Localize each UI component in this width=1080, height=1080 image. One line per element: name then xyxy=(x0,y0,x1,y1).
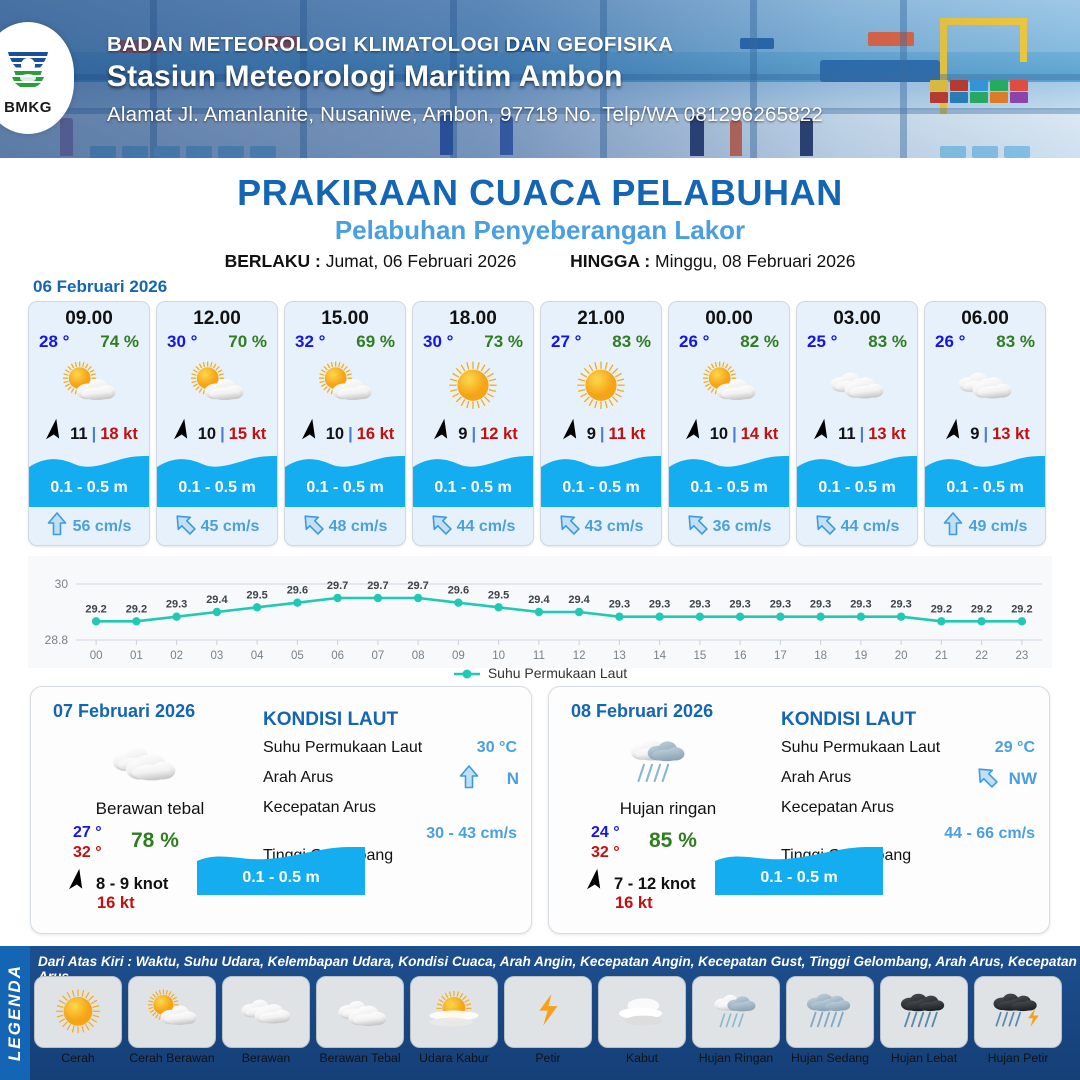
card-gust: 15 kt xyxy=(229,425,267,444)
forecast-card: 21.00 27 ° 83 % 9 | 11 kt 0.1 - 0.5 m 43… xyxy=(540,301,662,546)
card-time: 00.00 xyxy=(669,308,789,330)
card-wind-row: 11 | 18 kt xyxy=(29,422,149,447)
card-wind-separator: | xyxy=(600,425,605,444)
weather-hujan-lebat-icon xyxy=(880,976,968,1048)
sea-conditions-title: KONDISI LAUT xyxy=(781,709,1039,731)
svg-text:29.3: 29.3 xyxy=(166,599,187,611)
card-gust: 18 kt xyxy=(100,425,138,444)
sst-label: Suhu Permukaan Laut xyxy=(263,739,422,756)
svg-text:29.3: 29.3 xyxy=(649,599,670,611)
day-temp-min: 27 ° xyxy=(73,823,102,843)
forecast-card: 18.00 30 ° 73 % 9 | 12 kt 0.1 - 0.5 m 44… xyxy=(412,301,534,546)
legend-item: Udara Kabur xyxy=(410,976,498,1076)
validity-row: BERLAKU : Jumat, 06 Februari 2026 HINGGA… xyxy=(0,251,1080,272)
day-temp-max: 32 ° xyxy=(591,843,620,863)
current-speed-value-row: 30 - 43 cm/s xyxy=(263,829,521,847)
day-temp-max: 32 ° xyxy=(73,843,102,863)
card-temp-hum: 28 ° 74 % xyxy=(29,330,149,352)
svg-text:00: 00 xyxy=(90,650,103,662)
card-wind-speed: 11 xyxy=(70,425,87,444)
legend-item-label: Hujan Ringan xyxy=(692,1051,780,1065)
current-speed-value: 44 - 66 cm/s xyxy=(944,825,1035,843)
card-wind-speed: 10 xyxy=(326,425,344,444)
card-humidity: 83 % xyxy=(868,332,907,352)
legend-item-label: Kabut xyxy=(598,1051,686,1065)
forecast-card: 15.00 32 ° 69 % 10 | 16 kt 0.1 - 0.5 m xyxy=(284,301,406,546)
svg-text:29.7: 29.7 xyxy=(407,580,428,592)
legend-item-label: Hujan Lebat xyxy=(880,1051,968,1065)
svg-text:05: 05 xyxy=(291,650,304,662)
wind-direction-arrow-icon xyxy=(296,422,322,447)
current-direction-arrow-icon xyxy=(943,512,963,541)
wind-direction-arrow-icon xyxy=(428,422,454,447)
weather-cerah-berawan-icon xyxy=(285,354,405,418)
weather-cerah-icon xyxy=(541,354,661,418)
card-current-speed: 44 cm/s xyxy=(841,518,900,536)
sst-value: 29 °C xyxy=(995,739,1035,757)
card-time: 15.00 xyxy=(285,308,405,330)
day-wind-speed: 8 - 9 knot xyxy=(96,875,168,894)
card-time: 18.00 xyxy=(413,308,533,330)
card-temperature: 26 ° xyxy=(935,332,965,352)
legend-item: Hujan Sedang xyxy=(786,976,874,1076)
day-panels: 07 Februari 2026 Berawan tebal 27 ° 32 °… xyxy=(30,686,1050,934)
day-panel: 07 Februari 2026 Berawan tebal 27 ° 32 °… xyxy=(30,686,532,934)
station-address: Alamat Jl. Amanlanite, Nusaniwe, Ambon, … xyxy=(107,103,823,127)
forecast-date-label: 06 Februari 2026 xyxy=(33,277,167,297)
legend-item: Berawan xyxy=(222,976,310,1076)
svg-text:29.6: 29.6 xyxy=(287,585,308,597)
page-title: PRAKIRAAN CUACA PELABUHAN xyxy=(0,172,1080,214)
day-condition: Berawan tebal xyxy=(45,799,255,819)
wind-direction-arrow-icon xyxy=(557,422,583,447)
svg-text:20: 20 xyxy=(895,650,908,662)
legend-item: Hujan Lebat xyxy=(880,976,968,1076)
sea-conditions-title: KONDISI LAUT xyxy=(263,709,521,731)
card-wind-row: 9 | 13 kt xyxy=(925,422,1045,447)
forecast-cards: 09.00 28 ° 74 % 11 | 18 kt 0.1 - 0.5 m xyxy=(28,301,1052,546)
card-wind-separator: | xyxy=(348,425,353,444)
legend-item-label: Cerah Berawan xyxy=(128,1051,216,1065)
forecast-card: 00.00 26 ° 82 % 10 | 14 kt 0.1 - 0.5 m xyxy=(668,301,790,546)
weather-cerah-berawan-icon xyxy=(669,354,789,418)
card-time: 09.00 xyxy=(29,308,149,330)
svg-text:16: 16 xyxy=(734,650,747,662)
card-wave-height: 0.1 - 0.5 m xyxy=(285,479,405,497)
card-time: 03.00 xyxy=(797,308,917,330)
forecast-card: 03.00 25 ° 83 % 11 | 13 kt 0.1 - 0 xyxy=(796,301,918,546)
legend-item: Petir xyxy=(504,976,592,1076)
svg-text:29.3: 29.3 xyxy=(729,599,750,611)
current-speed-label: Kecepatan Arus xyxy=(263,799,376,816)
weather-berawan-icon xyxy=(925,354,1045,418)
card-wave-height: 0.1 - 0.5 m xyxy=(669,479,789,497)
card-wave-height: 0.1 - 0.5 m xyxy=(29,479,149,497)
card-time: 06.00 xyxy=(925,308,1045,330)
legend-item-label: Berawan xyxy=(222,1051,310,1065)
svg-text:29.4: 29.4 xyxy=(206,594,228,606)
weather-cerah-icon xyxy=(34,976,122,1048)
card-wind-row: 11 | 13 kt xyxy=(797,422,917,447)
card-humidity: 73 % xyxy=(484,332,523,352)
card-time: 21.00 xyxy=(541,308,661,330)
card-wave-height: 0.1 - 0.5 m xyxy=(413,479,533,497)
wind-direction-arrow-icon xyxy=(680,422,706,447)
day-humidity: 78 % xyxy=(131,829,179,853)
svg-text:08: 08 xyxy=(412,650,425,662)
weather-petir-icon xyxy=(504,976,592,1048)
card-temperature: 30 ° xyxy=(423,332,453,352)
card-gust: 12 kt xyxy=(480,425,518,444)
current-direction-value: N xyxy=(507,769,519,789)
card-gust: 13 kt xyxy=(868,425,906,444)
svg-text:17: 17 xyxy=(774,650,787,662)
weather-berawan-icon xyxy=(797,354,917,418)
chart-legend: Suhu Permukaan Laut xyxy=(0,665,1080,681)
day-condition: Hujan ringan xyxy=(563,799,773,819)
day-wave-block: 0.1 - 0.5 m xyxy=(197,847,365,895)
legend-item: Cerah xyxy=(34,976,122,1076)
current-direction-arrow-icon xyxy=(977,765,997,794)
svg-text:29.7: 29.7 xyxy=(327,580,348,592)
svg-text:29.2: 29.2 xyxy=(1011,603,1032,615)
card-wave-height: 0.1 - 0.5 m xyxy=(157,479,277,497)
weather-cerah-berawan-icon xyxy=(29,354,149,418)
current-direction-row: Arah Arus N xyxy=(263,769,521,799)
card-wave-block: 0.1 - 0.5 m xyxy=(413,455,533,507)
day-temperatures: 24 ° 32 ° xyxy=(591,823,620,863)
card-temperature: 28 ° xyxy=(39,332,69,352)
card-wind-row: 9 | 11 kt xyxy=(541,422,661,447)
day-gust: 16 kt xyxy=(615,894,653,913)
sst-label: Suhu Permukaan Laut xyxy=(781,739,940,756)
card-temperature: 26 ° xyxy=(679,332,709,352)
forecast-card: 12.00 30 ° 70 % 10 | 15 kt 0.1 - 0.5 m xyxy=(156,301,278,546)
card-wave-block: 0.1 - 0.5 m xyxy=(285,455,405,507)
wind-direction-arrow-icon xyxy=(40,422,66,447)
wind-direction-arrow-icon xyxy=(940,422,966,447)
card-temp-hum: 30 ° 73 % xyxy=(413,330,533,352)
berlaku-value: Jumat, 06 Februari 2026 xyxy=(326,251,517,271)
card-temp-hum: 30 ° 70 % xyxy=(157,330,277,352)
card-temperature: 27 ° xyxy=(551,332,581,352)
wind-direction-arrow-icon xyxy=(168,422,194,447)
card-current-row: 44 cm/s xyxy=(413,512,533,541)
day-date: 07 Februari 2026 xyxy=(53,701,195,722)
card-current-row: 43 cm/s xyxy=(541,512,661,541)
legend-item-label: Hujan Petir xyxy=(974,1051,1062,1065)
svg-text:10: 10 xyxy=(492,650,505,662)
header-banner: BMKG BADAN METEOROLOGI KLIMATOLOGI DAN G… xyxy=(0,0,1080,158)
weather-hujan-petir-icon xyxy=(974,976,1062,1048)
legend-marker-icon xyxy=(453,668,481,680)
card-temp-hum: 32 ° 69 % xyxy=(285,330,405,352)
current-direction-label: Arah Arus xyxy=(263,769,333,786)
card-wave-block: 0.1 - 0.5 m xyxy=(669,455,789,507)
legend-bar: LEGENDA Dari Atas Kiri : Waktu, Suhu Uda… xyxy=(0,946,1080,1080)
card-current-row: 36 cm/s xyxy=(669,512,789,541)
card-wind-separator: | xyxy=(471,425,476,444)
current-direction-arrow-icon xyxy=(815,512,835,541)
svg-text:12: 12 xyxy=(573,650,586,662)
svg-text:23: 23 xyxy=(1016,650,1029,662)
legend-item-label: Cerah xyxy=(34,1051,122,1065)
svg-text:29.3: 29.3 xyxy=(810,599,831,611)
weather-cerah-berawan-icon xyxy=(128,976,216,1048)
card-gust: 16 kt xyxy=(357,425,395,444)
day-wind-speed: 7 - 12 knot xyxy=(614,875,696,894)
svg-text:03: 03 xyxy=(211,650,224,662)
day-humidity: 85 % xyxy=(649,829,697,853)
current-direction-arrow-icon xyxy=(559,512,579,541)
current-speed-value: 30 - 43 cm/s xyxy=(426,825,517,843)
weather-udara-kabur-icon xyxy=(410,976,498,1048)
card-current-speed: 43 cm/s xyxy=(585,518,644,536)
svg-text:29.3: 29.3 xyxy=(689,599,710,611)
card-wave-block: 0.1 - 0.5 m xyxy=(541,455,661,507)
card-current-speed: 45 cm/s xyxy=(201,518,260,536)
day-panel: 08 Februari 2026 Hujan ringan 24 ° 32 ° … xyxy=(548,686,1050,934)
card-temperature: 32 ° xyxy=(295,332,325,352)
svg-text:29.3: 29.3 xyxy=(770,599,791,611)
card-humidity: 83 % xyxy=(996,332,1035,352)
svg-text:01: 01 xyxy=(130,650,143,662)
svg-text:30: 30 xyxy=(55,577,69,591)
card-wave-block: 0.1 - 0.5 m xyxy=(157,455,277,507)
svg-text:13: 13 xyxy=(613,650,626,662)
card-time: 12.00 xyxy=(157,308,277,330)
card-wind-speed: 11 xyxy=(838,425,855,444)
card-wind-speed: 9 xyxy=(970,425,979,444)
card-humidity: 82 % xyxy=(740,332,779,352)
card-temp-hum: 26 ° 83 % xyxy=(925,330,1045,352)
infographic-page: BMKG BADAN METEOROLOGI KLIMATOLOGI DAN G… xyxy=(0,0,1080,1080)
weather-hujan-ringan-icon xyxy=(692,976,780,1048)
hingga-value: Minggu, 08 Februari 2026 xyxy=(655,251,855,271)
card-wind-speed: 9 xyxy=(458,425,467,444)
card-humidity: 83 % xyxy=(612,332,651,352)
weather-hujan-ringan-icon xyxy=(611,729,707,795)
card-humidity: 69 % xyxy=(356,332,395,352)
wind-direction-arrow-icon xyxy=(581,872,607,897)
svg-text:29.4: 29.4 xyxy=(568,594,590,606)
wind-direction-arrow-icon xyxy=(808,422,834,447)
day-wave-block: 0.1 - 0.5 m xyxy=(715,847,883,895)
weather-hujan-sedang-icon xyxy=(786,976,874,1048)
svg-text:18: 18 xyxy=(814,650,827,662)
card-wind-speed: 10 xyxy=(198,425,216,444)
sst-chart: 30 28.8 29.229.229.329.429.529.629.729.7… xyxy=(28,556,1052,668)
card-wind-row: 10 | 15 kt xyxy=(157,422,277,447)
svg-text:29.3: 29.3 xyxy=(609,599,630,611)
svg-text:29.2: 29.2 xyxy=(931,603,952,615)
sst-row: Suhu Permukaan Laut 29 °C xyxy=(781,739,1039,769)
agency-name: BADAN METEOROLOGI KLIMATOLOGI DAN GEOFIS… xyxy=(107,33,674,57)
weather-cerah-berawan-icon xyxy=(157,354,277,418)
card-wave-height: 0.1 - 0.5 m xyxy=(541,479,661,497)
bmkg-logo-text: BMKG xyxy=(4,99,52,116)
legend-item-label: Petir xyxy=(504,1051,592,1065)
legend-item: Kabut xyxy=(598,976,686,1076)
card-wind-row: 10 | 14 kt xyxy=(669,422,789,447)
legend-item-label: Udara Kabur xyxy=(410,1051,498,1065)
hingga-label: HINGGA : xyxy=(570,251,650,271)
card-current-speed: 36 cm/s xyxy=(713,518,772,536)
card-wind-speed: 9 xyxy=(587,425,596,444)
legend-item: Berawan Tebal xyxy=(316,976,404,1076)
svg-text:29.5: 29.5 xyxy=(488,589,509,601)
forecast-card: 09.00 28 ° 74 % 11 | 18 kt 0.1 - 0.5 m xyxy=(28,301,150,546)
station-name: Stasiun Meteorologi Maritim Ambon xyxy=(107,60,623,94)
card-current-speed: 48 cm/s xyxy=(329,518,388,536)
svg-text:29.3: 29.3 xyxy=(850,599,871,611)
svg-text:29.5: 29.5 xyxy=(246,589,267,601)
svg-text:19: 19 xyxy=(855,650,868,662)
card-wind-separator: | xyxy=(860,425,865,444)
current-direction-row: Arah Arus NW xyxy=(781,769,1039,799)
card-wind-separator: | xyxy=(220,425,225,444)
legend-items: Cerah Cerah Berawan Berawan xyxy=(34,976,1076,1076)
wind-direction-arrow-icon xyxy=(63,872,89,897)
weather-kabut-icon xyxy=(598,976,686,1048)
card-wave-block: 0.1 - 0.5 m xyxy=(797,455,917,507)
day-gust: 16 kt xyxy=(97,894,135,913)
card-gust: 14 kt xyxy=(741,425,779,444)
sst-row: Suhu Permukaan Laut 30 °C xyxy=(263,739,521,769)
card-wind-row: 9 | 12 kt xyxy=(413,422,533,447)
forecast-card: 06.00 26 ° 83 % 9 | 13 kt 0.1 - 0. xyxy=(924,301,1046,546)
weather-cerah-icon xyxy=(413,354,533,418)
card-wave-height: 0.1 - 0.5 m xyxy=(797,479,917,497)
chart-legend-label: Suhu Permukaan Laut xyxy=(488,665,627,681)
weather-berawan-tebal-icon xyxy=(93,729,189,795)
card-temp-hum: 27 ° 83 % xyxy=(541,330,661,352)
day-temp-min: 24 ° xyxy=(591,823,620,843)
card-gust: 13 kt xyxy=(992,425,1030,444)
card-temperature: 25 ° xyxy=(807,332,837,352)
svg-text:29.2: 29.2 xyxy=(126,603,147,615)
card-gust: 11 kt xyxy=(609,425,646,444)
svg-text:07: 07 xyxy=(372,650,385,662)
card-temperature: 30 ° xyxy=(167,332,197,352)
legend-item: Cerah Berawan xyxy=(128,976,216,1076)
card-wind-separator: | xyxy=(983,425,988,444)
legend-side-title: LEGENDA xyxy=(0,946,30,1080)
card-current-row: 49 cm/s xyxy=(925,512,1045,541)
svg-text:29.3: 29.3 xyxy=(890,599,911,611)
legend-item: Hujan Ringan xyxy=(692,976,780,1076)
current-speed-value-row: 44 - 66 cm/s xyxy=(781,829,1039,847)
svg-text:11: 11 xyxy=(533,650,545,662)
svg-text:28.8: 28.8 xyxy=(45,633,69,647)
card-temp-hum: 26 ° 82 % xyxy=(669,330,789,352)
day-wave-height: 0.1 - 0.5 m xyxy=(715,869,883,887)
legend-item-label: Hujan Sedang xyxy=(786,1051,874,1065)
weather-berawan-icon xyxy=(222,976,310,1048)
svg-text:29.6: 29.6 xyxy=(448,585,469,597)
current-direction-arrow-icon xyxy=(687,512,707,541)
svg-text:29.2: 29.2 xyxy=(971,603,992,615)
card-current-speed: 49 cm/s xyxy=(969,518,1028,536)
card-wave-block: 0.1 - 0.5 m xyxy=(925,455,1045,507)
current-speed-label: Kecepatan Arus xyxy=(781,799,894,816)
card-current-row: 48 cm/s xyxy=(285,512,405,541)
current-direction-arrow-icon xyxy=(459,765,479,794)
legend-item: Hujan Petir xyxy=(974,976,1062,1076)
page-subtitle: Pelabuhan Penyeberangan Lakor xyxy=(0,215,1080,246)
card-wind-speed: 10 xyxy=(710,425,728,444)
card-wind-row: 10 | 16 kt xyxy=(285,422,405,447)
svg-text:09: 09 xyxy=(452,650,465,662)
svg-text:04: 04 xyxy=(251,650,264,662)
card-wave-block: 0.1 - 0.5 m xyxy=(29,455,149,507)
card-current-row: 44 cm/s xyxy=(797,512,917,541)
svg-text:06: 06 xyxy=(331,650,344,662)
current-direction-arrow-icon xyxy=(175,512,195,541)
day-temperatures: 27 ° 32 ° xyxy=(73,823,102,863)
legend-item-label: Berawan Tebal xyxy=(316,1051,404,1065)
current-direction-label: Arah Arus xyxy=(781,769,851,786)
current-direction-arrow-icon xyxy=(303,512,323,541)
svg-text:29.2: 29.2 xyxy=(85,603,106,615)
card-current-speed: 56 cm/s xyxy=(73,518,132,536)
weather-berawan-tebal-icon xyxy=(316,976,404,1048)
sst-value: 30 °C xyxy=(477,739,517,757)
svg-text:14: 14 xyxy=(653,650,666,662)
berlaku-label: BERLAKU : xyxy=(225,251,321,271)
card-temp-hum: 25 ° 83 % xyxy=(797,330,917,352)
card-humidity: 70 % xyxy=(228,332,267,352)
svg-text:21: 21 xyxy=(935,650,948,662)
svg-text:29.4: 29.4 xyxy=(528,594,550,606)
card-current-row: 45 cm/s xyxy=(157,512,277,541)
card-wind-separator: | xyxy=(92,425,97,444)
svg-text:29.7: 29.7 xyxy=(367,580,388,592)
card-humidity: 74 % xyxy=(100,332,139,352)
svg-text:22: 22 xyxy=(975,650,988,662)
card-wave-height: 0.1 - 0.5 m xyxy=(925,479,1045,497)
current-direction-value: NW xyxy=(1009,769,1037,789)
day-date: 08 Februari 2026 xyxy=(571,701,713,722)
svg-text:02: 02 xyxy=(170,650,183,662)
current-direction-arrow-icon xyxy=(431,512,451,541)
card-current-speed: 44 cm/s xyxy=(457,518,516,536)
svg-text:15: 15 xyxy=(694,650,707,662)
bmkg-logo-mark xyxy=(0,40,56,96)
card-current-row: 56 cm/s xyxy=(29,512,149,541)
current-direction-arrow-icon xyxy=(47,512,67,541)
day-wave-height: 0.1 - 0.5 m xyxy=(197,869,365,887)
card-wind-separator: | xyxy=(732,425,737,444)
